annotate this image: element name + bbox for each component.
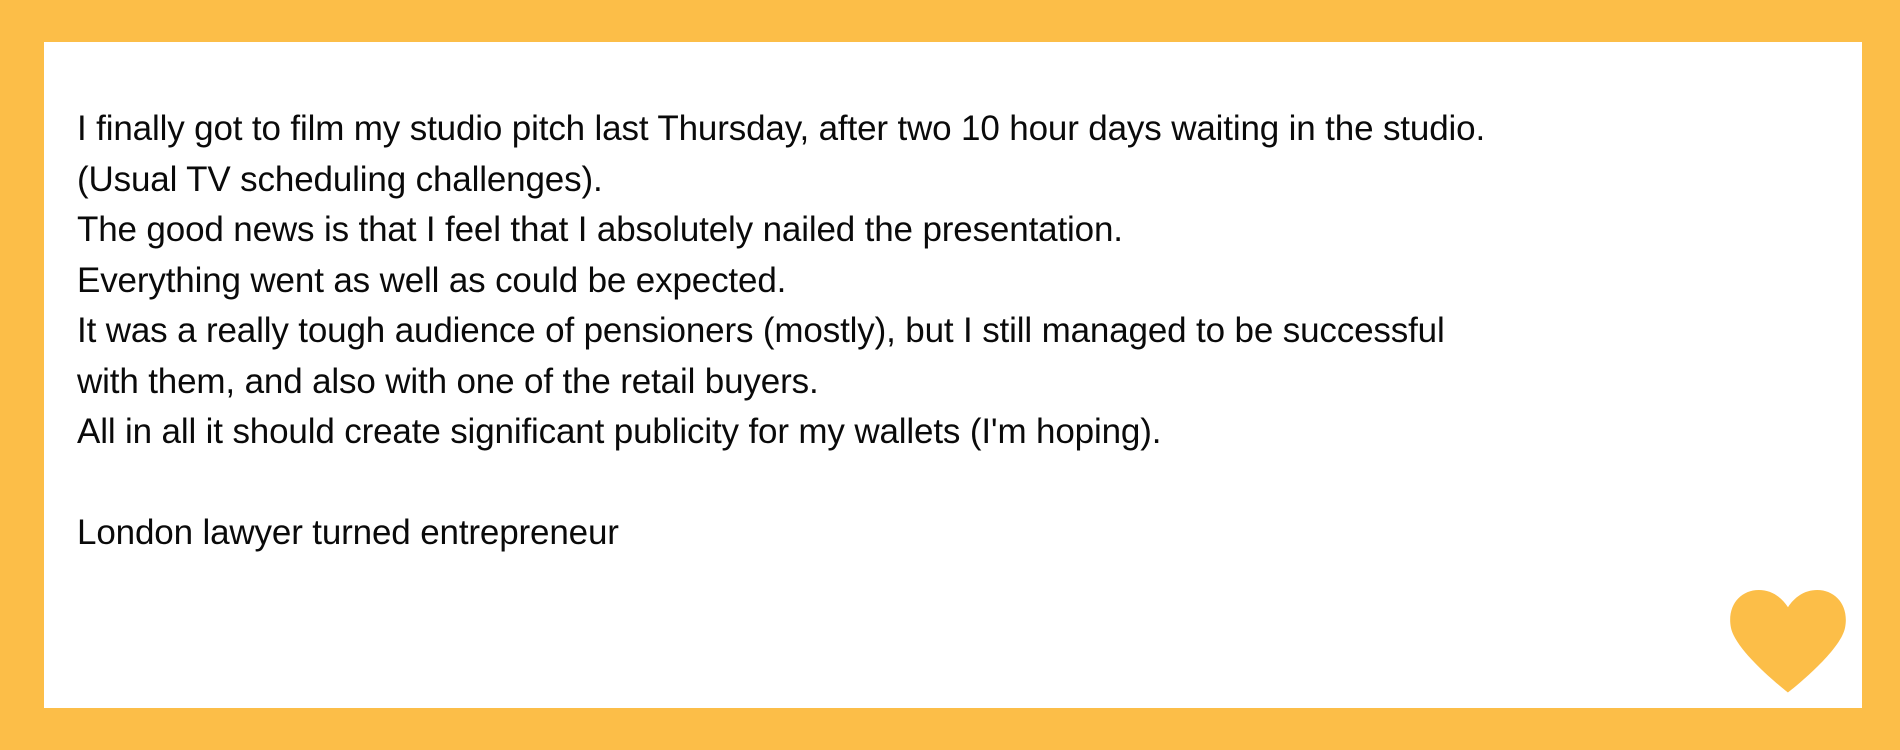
- quote-line-3: The good news is that I feel that I abso…: [77, 205, 1777, 256]
- quote-line-6: with them, and also with one of the reta…: [77, 357, 1777, 408]
- heart-icon: [1729, 589, 1847, 693]
- quote-line-5: It was a really tough audience of pensio…: [77, 306, 1777, 357]
- testimonial-signature: London lawyer turned entrepreneur: [77, 508, 1777, 559]
- quote-text-block: I finally got to film my studio pitch la…: [77, 104, 1777, 559]
- testimonial-card: I finally got to film my studio pitch la…: [44, 42, 1862, 708]
- quote-line-2: (Usual TV scheduling challenges).: [77, 155, 1777, 206]
- quote-line-1: I finally got to film my studio pitch la…: [77, 104, 1777, 155]
- quote-line-7: All in all it should create significant …: [77, 407, 1777, 458]
- quote-line-4: Everything went as well as could be expe…: [77, 256, 1777, 307]
- testimonial-background: I finally got to film my studio pitch la…: [0, 0, 1900, 750]
- quote-paragraph-break: [77, 458, 1777, 509]
